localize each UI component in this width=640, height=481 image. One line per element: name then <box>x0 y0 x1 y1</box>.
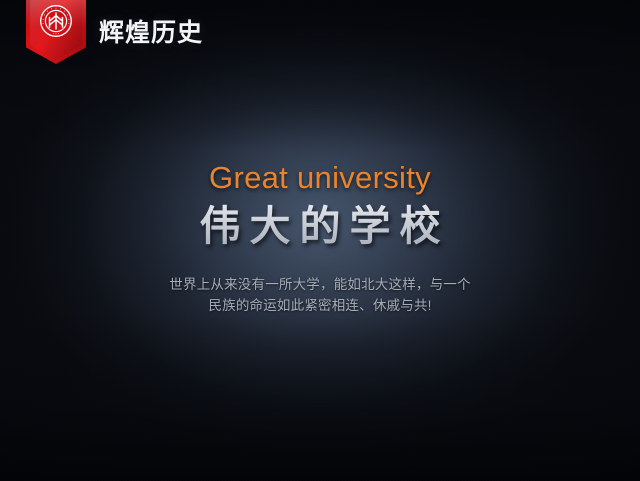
peking-university-seal-icon <box>39 4 73 38</box>
subtitle-line-2: 民族的命运如此紧密相连、休戚与共! <box>150 295 490 316</box>
headline-english: Great university <box>0 162 640 195</box>
page-title: 辉煌历史 <box>99 21 203 46</box>
slide-canvas: 辉煌历史 Great university 伟大的学校 世界上从来没有一所大学，… <box>0 0 640 481</box>
university-badge-ribbon <box>26 0 86 64</box>
subtitle-block: 世界上从来没有一所大学，能如北大这样，与一个 民族的命运如此紧密相连、休戚与共! <box>150 274 490 316</box>
slide-header: 辉煌历史 <box>0 0 640 80</box>
headline-chinese: 伟大的学校 <box>0 203 640 250</box>
subtitle-line-1: 世界上从来没有一所大学，能如北大这样，与一个 <box>150 274 490 295</box>
